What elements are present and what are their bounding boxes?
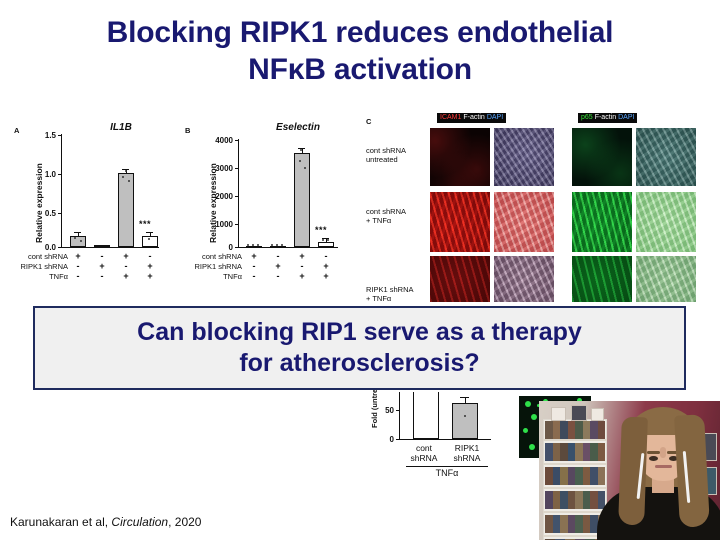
title-line-1: Blocking RIPK1 reduces endothelial: [40, 14, 680, 51]
panel-a-ytick-0: 0.0: [36, 243, 56, 252]
panel-b-ytick-3: 3000: [206, 164, 233, 173]
panel-b-cond-row-2-name: TNFα: [176, 272, 242, 281]
row-label-line1: cont shRNA: [366, 207, 406, 216]
panel-c-tile-r3c1-icam1: [430, 256, 490, 302]
panel-a-errorcap-0: [74, 232, 81, 233]
row-label-line2: untreated: [366, 155, 406, 164]
panel-a-ytick-2: 1.0: [36, 170, 56, 179]
panel-a-bar-2: [118, 173, 134, 247]
panel-d-bar-0: [413, 392, 439, 439]
panel-b-cond-1-0: -: [248, 261, 260, 271]
panel-b-cond-0-1: -: [272, 251, 284, 261]
panel-a-cond-0-1: -: [96, 251, 108, 261]
panel-b-cond-2-0: -: [248, 271, 260, 281]
panel-b-chart-title: Eselectin: [250, 122, 346, 133]
mouth: [655, 465, 672, 468]
panel-a-cond-0-2: +: [120, 251, 132, 261]
panel-a-ytick-3: 1.5: [36, 131, 56, 140]
panel-c-header-icam1: ICAM1F-actinDAPI: [437, 113, 506, 123]
row-label-line1: RIPK1 shRNA: [366, 285, 414, 294]
question-callout-box: Can blocking RIP1 serve as a therapy for…: [33, 306, 686, 390]
panel-b-cond-2-3: +: [320, 271, 332, 281]
slide-canvas: Blocking RIPK1 reduces endothelial NFκB …: [0, 0, 720, 540]
channel-label-icam1: ICAM1: [439, 114, 462, 121]
panel-c-row-label-1: cont shRNA + TNFα: [366, 207, 406, 225]
question-line-1: Can blocking RIP1 serve as a therapy: [137, 317, 582, 348]
panel-c-header-p65: p65F-actinDAPI: [578, 113, 637, 123]
panel-b-cond-1-1: +: [272, 261, 284, 271]
panel-a-cond-2-0: -: [72, 271, 84, 281]
panel-b-cond-2-2: +: [296, 271, 308, 281]
panel-a-y-axis: [61, 134, 62, 248]
panel-c-row-label-2: RIPK1 shRNA + TNFα: [366, 285, 414, 303]
panel-a-cond-row-0-name: cont shRNA: [2, 252, 68, 261]
panel-b-cond-0-2: +: [296, 251, 308, 261]
page-title: Blocking RIPK1 reduces endothelial NFκB …: [40, 14, 680, 88]
panel-a-significance: ***: [139, 219, 151, 229]
panel-c-tile-r1c2-merge: [494, 128, 554, 186]
nose: [660, 447, 666, 458]
panel-c-tile-r2c3-p65: [572, 192, 632, 252]
presenter-webcam-overlay[interactable]: [539, 401, 720, 540]
panel-a-letter: A: [14, 126, 19, 135]
panel-b-cond-0-0: +: [248, 251, 260, 261]
panel-c-tile-r3c4-merge: [636, 256, 696, 302]
panel-a-bar-0: [70, 236, 86, 247]
panel-a-datapoint: [125, 170, 127, 172]
panel-b-ytick-1: 1000: [206, 220, 233, 229]
category-line1: cont: [404, 443, 444, 453]
hair-right: [674, 414, 710, 527]
panel-a-bar-3: [142, 236, 158, 247]
category-line1: RIPK1: [445, 443, 489, 453]
framed-picture: [571, 405, 587, 421]
panel-d-errorcap-1: [460, 397, 469, 398]
panel-d-bar-1: [452, 403, 478, 439]
panel-a-cond-2-1: -: [96, 271, 108, 281]
panel-a-x-axis: [61, 247, 159, 248]
channel-label-factin: F-actin: [462, 114, 485, 121]
citation-authors: Karunakaran et al,: [10, 515, 108, 529]
panel-b-datapoint: [322, 239, 324, 241]
panel-b-y-axis-label: Relative expression: [208, 163, 218, 243]
row-label-line2: + TNFα: [366, 216, 406, 225]
hair-left: [618, 417, 648, 526]
title-line-2: NFκB activation: [40, 51, 680, 88]
category-line2: shRNA: [404, 453, 444, 463]
panel-b-bar-1: [270, 246, 286, 248]
panel-a-cond-row-2-name: TNFα: [2, 272, 68, 281]
panel-b-datapoint: [327, 239, 329, 241]
panel-a-cond-0-0: +: [72, 251, 84, 261]
panel-a-cond-0-3: -: [144, 251, 156, 261]
panel-d-x-axis: [399, 439, 491, 440]
panel-a-cond-1-1: +: [96, 261, 108, 271]
panel-b-ytick-0: 0: [206, 243, 233, 252]
panel-b-cond-1-3: +: [320, 261, 332, 271]
panel-c-tile-r3c3-p65: [572, 256, 632, 302]
channel-label-dapi: DAPI: [617, 114, 635, 121]
panel-b-cond-row-1-name: RIPK1 shRNA: [176, 262, 242, 271]
panel-d-category-label-1: RIPK1 shRNA: [445, 443, 489, 463]
presenter-figure: [603, 401, 720, 540]
panel-c-tile-r1c3-p65: [572, 128, 632, 186]
panel-c-tile-r3c2-merge: [494, 256, 554, 302]
framed-picture: [551, 407, 566, 421]
panel-a-cond-2-2: +: [120, 271, 132, 281]
panel-a-cond-2-3: +: [144, 271, 156, 281]
panel-b-y-axis: [238, 139, 239, 248]
panel-a-chart-title: IL1B: [78, 122, 164, 133]
panel-d-ytick-1: 50: [380, 406, 394, 415]
channel-label-p65: p65: [580, 114, 594, 121]
question-text: Can blocking RIP1 serve as a therapy for…: [127, 317, 592, 379]
panel-c-letter: C: [366, 117, 371, 126]
panel-c-tile-r1c1-icam1: [430, 128, 490, 186]
panel-b-cond-2-1: -: [272, 271, 284, 281]
panel-b-letter: B: [185, 126, 190, 135]
panel-d-group-label: TNFα: [406, 468, 488, 478]
question-line-2: for atherosclerosis?: [137, 348, 582, 379]
panel-d-y-axis: [399, 392, 400, 439]
channel-label-dapi: DAPI: [486, 114, 504, 121]
panel-a-cond-1-2: -: [120, 261, 132, 271]
panel-a-ytick-1: 0.5: [36, 209, 56, 218]
panel-b-ytick-4: 4000: [206, 136, 233, 145]
panel-c-tile-r2c4-merge: [636, 192, 696, 252]
panel-b-cond-row-0-name: cont shRNA: [176, 252, 242, 261]
panel-c-tile-r2c2-merge: [494, 192, 554, 252]
row-label-line1: cont shRNA: [366, 146, 406, 155]
panel-b-cond-0-3: -: [320, 251, 332, 261]
panel-b-bar-2: [294, 153, 310, 247]
panel-a-cond-1-3: +: [144, 261, 156, 271]
panel-c-tile-r1c4-merge: [636, 128, 696, 186]
panel-b-cond-1-2: -: [296, 261, 308, 271]
panel-c-row-label-0: cont shRNA untreated: [366, 146, 406, 164]
panel-d-ytick-0: 0: [380, 435, 394, 444]
citation-year: , 2020: [168, 515, 201, 529]
panel-d-group-bracket: [406, 466, 488, 467]
panel-a-errorcap-3: [146, 232, 153, 233]
panel-a-cond-1-0: -: [72, 261, 84, 271]
channel-label-factin: F-actin: [594, 114, 617, 121]
panel-a-cond-row-1-name: RIPK1 shRNA: [2, 262, 68, 271]
panel-a-bar-1: [94, 245, 110, 247]
panel-b-ytick-2: 2000: [206, 192, 233, 201]
citation: Karunakaran et al, Circulation, 2020: [10, 515, 201, 529]
panel-b-bar-0: [246, 246, 262, 248]
panel-d-category-label-0: cont shRNA: [404, 443, 444, 463]
citation-journal: Circulation: [111, 515, 168, 529]
panel-b-significance: ***: [315, 225, 327, 235]
panel-c-tile-r2c1-icam1: [430, 192, 490, 252]
row-label-line2: + TNFα: [366, 294, 414, 303]
category-line2: shRNA: [445, 453, 489, 463]
